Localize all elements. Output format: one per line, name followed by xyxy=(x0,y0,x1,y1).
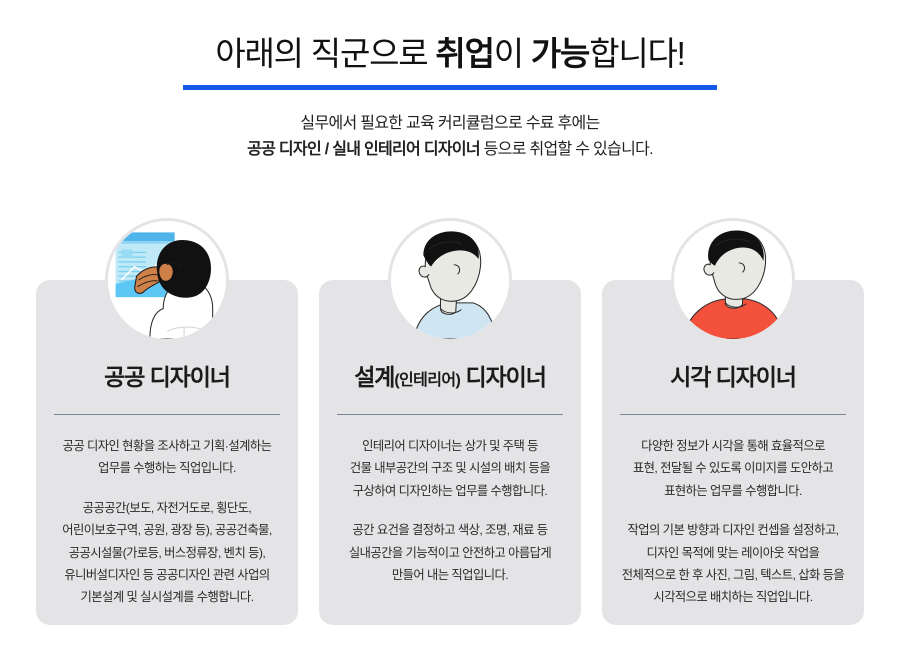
job-card-description: 다양한 정보가 시각을 통해 효율적으로 표현, 전달될 수 있도록 이미지를 … xyxy=(620,435,846,609)
job-card-title-sub: (인테리어) xyxy=(394,372,460,389)
job-card-description: 공공 디자인 현황을 조사하고 기획·설계하는 업무를 수행하는 직업입니다. … xyxy=(54,435,280,609)
subtitle-line-2-rest: 등으로 취업할 수 있습니다. xyxy=(480,141,653,158)
description-line: 건물 내부공간의 구조 및 시설의 배치 등을 xyxy=(337,457,563,479)
job-card-divider xyxy=(620,414,846,415)
job-card-interior-designer[interactable]: 설계(인테리어) 디자이너 인테리어 디자이너는 상가 및 주택 등 건물 내부… xyxy=(319,280,581,625)
description-line: 표현, 전달될 수 있도록 이미지를 도안하고 xyxy=(620,457,846,479)
avatar-person-at-monitor-icon xyxy=(105,218,229,342)
description-line: 다양한 정보가 시각을 통해 효율적으로 xyxy=(620,435,846,457)
page-title-part-1: 아래의 직군으로 xyxy=(215,35,435,72)
description-line: 어린이보호구역, 공원, 광장 등), 공공건축물, xyxy=(54,519,280,541)
subtitle-line-2: 공공 디자인 / 실내 인테리어 디자이너 등으로 취업할 수 있습니다. xyxy=(0,137,900,163)
page-title-part-3: 합니다! xyxy=(589,35,684,72)
description-line: 공공공간(보도, 자전거도로, 횡단도, xyxy=(54,497,280,519)
job-card-paragraph-2: 공공공간(보도, 자전거도로, 횡단도, 어린이보호구역, 공원, 광장 등),… xyxy=(54,497,280,609)
description-line: 공공 디자인 현황을 조사하고 기획·설계하는 xyxy=(54,435,280,457)
description-line: 기본설계 및 실시설계를 수행합니다. xyxy=(54,586,280,608)
job-card-paragraph-1: 인테리어 디자이너는 상가 및 주택 등 건물 내부공간의 구조 및 시설의 배… xyxy=(337,435,563,502)
job-card-divider xyxy=(337,414,563,415)
subtitle-line-1: 실무에서 필요한 교육 커리큘럼으로 수료 후에는 xyxy=(0,111,900,137)
subtitle-emphasis: 공공 디자인 / 실내 인테리어 디자이너 xyxy=(247,141,480,158)
avatar-person-red-shirt-icon xyxy=(671,218,795,342)
description-line: 공공시설물(가로등, 버스정류장, 벤치 등), xyxy=(54,542,280,564)
description-line: 실내공간을 기능적이고 안전하고 아름답게 xyxy=(337,542,563,564)
description-line: 유니버설디자인 등 공공디자인 관련 사업의 xyxy=(54,564,280,586)
job-card-paragraph-2: 작업의 기본 방향과 디자인 컨셉을 설정하고, 디자인 목적에 맞는 레이아웃… xyxy=(620,519,846,609)
page-subtitle: 실무에서 필요한 교육 커리큘럼으로 수료 후에는 공공 디자인 / 실내 인테… xyxy=(0,111,900,163)
description-line: 표현하는 업무를 수행합니다. xyxy=(620,480,846,502)
description-line: 업무를 수행하는 직업입니다. xyxy=(54,457,280,479)
description-line: 인테리어 디자이너는 상가 및 주택 등 xyxy=(337,435,563,457)
job-card-title-tail: 디자이너 xyxy=(460,364,546,390)
job-card-paragraph-2: 공간 요건을 결정하고 색상, 조명, 재료 등 실내공간을 기능적이고 안전하… xyxy=(337,519,563,586)
description-line: 디자인 목적에 맞는 레이아웃 작업을 xyxy=(620,542,846,564)
page-title: 아래의 직군으로 취업이 가능합니다! xyxy=(0,34,900,74)
avatar-person-profile-blue-shirt-icon xyxy=(388,218,512,342)
page-title-emphasis-2: 가능 xyxy=(531,35,589,72)
description-line: 공간 요건을 결정하고 색상, 조명, 재료 등 xyxy=(337,519,563,541)
job-card-title-main: 시각 디자이너 xyxy=(670,364,796,390)
job-card-description: 인테리어 디자이너는 상가 및 주택 등 건물 내부공간의 구조 및 시설의 배… xyxy=(337,435,563,586)
job-card-paragraph-1: 다양한 정보가 시각을 통해 효율적으로 표현, 전달될 수 있도록 이미지를 … xyxy=(620,435,846,502)
description-line: 시각적으로 배치하는 직업입니다. xyxy=(620,586,846,608)
page-title-emphasis-1: 취업 xyxy=(435,35,493,72)
job-card-title-main: 설계 xyxy=(354,364,394,390)
description-line: 구상하여 디자인하는 업무를 수행합니다. xyxy=(337,480,563,502)
job-card-divider xyxy=(54,414,280,415)
job-card-title-main: 공공 디자이너 xyxy=(104,364,230,390)
description-line: 작업의 기본 방향과 디자인 컨셉을 설정하고, xyxy=(620,519,846,541)
job-card-public-designer[interactable]: 공공 디자이너 공공 디자인 현황을 조사하고 기획·설계하는 업무를 수행하는… xyxy=(36,280,298,625)
job-card-paragraph-1: 공공 디자인 현황을 조사하고 기획·설계하는 업무를 수행하는 직업입니다. xyxy=(54,435,280,480)
description-line: 만들어 내는 직업입니다. xyxy=(337,564,563,586)
page-title-part-2: 이 xyxy=(494,35,531,72)
job-card-visual-designer[interactable]: 시각 디자이너 다양한 정보가 시각을 통해 효율적으로 표현, 전달될 수 있… xyxy=(602,280,864,625)
title-underline-rule xyxy=(183,85,717,90)
job-card-list: 공공 디자이너 공공 디자인 현황을 조사하고 기획·설계하는 업무를 수행하는… xyxy=(36,280,864,625)
description-line: 전체적으로 한 후 사진, 그림, 텍스트, 삽화 등을 xyxy=(620,564,846,586)
page-header: 아래의 직군으로 취업이 가능합니다! 실무에서 필요한 교육 커리큘럼으로 수… xyxy=(0,0,900,162)
